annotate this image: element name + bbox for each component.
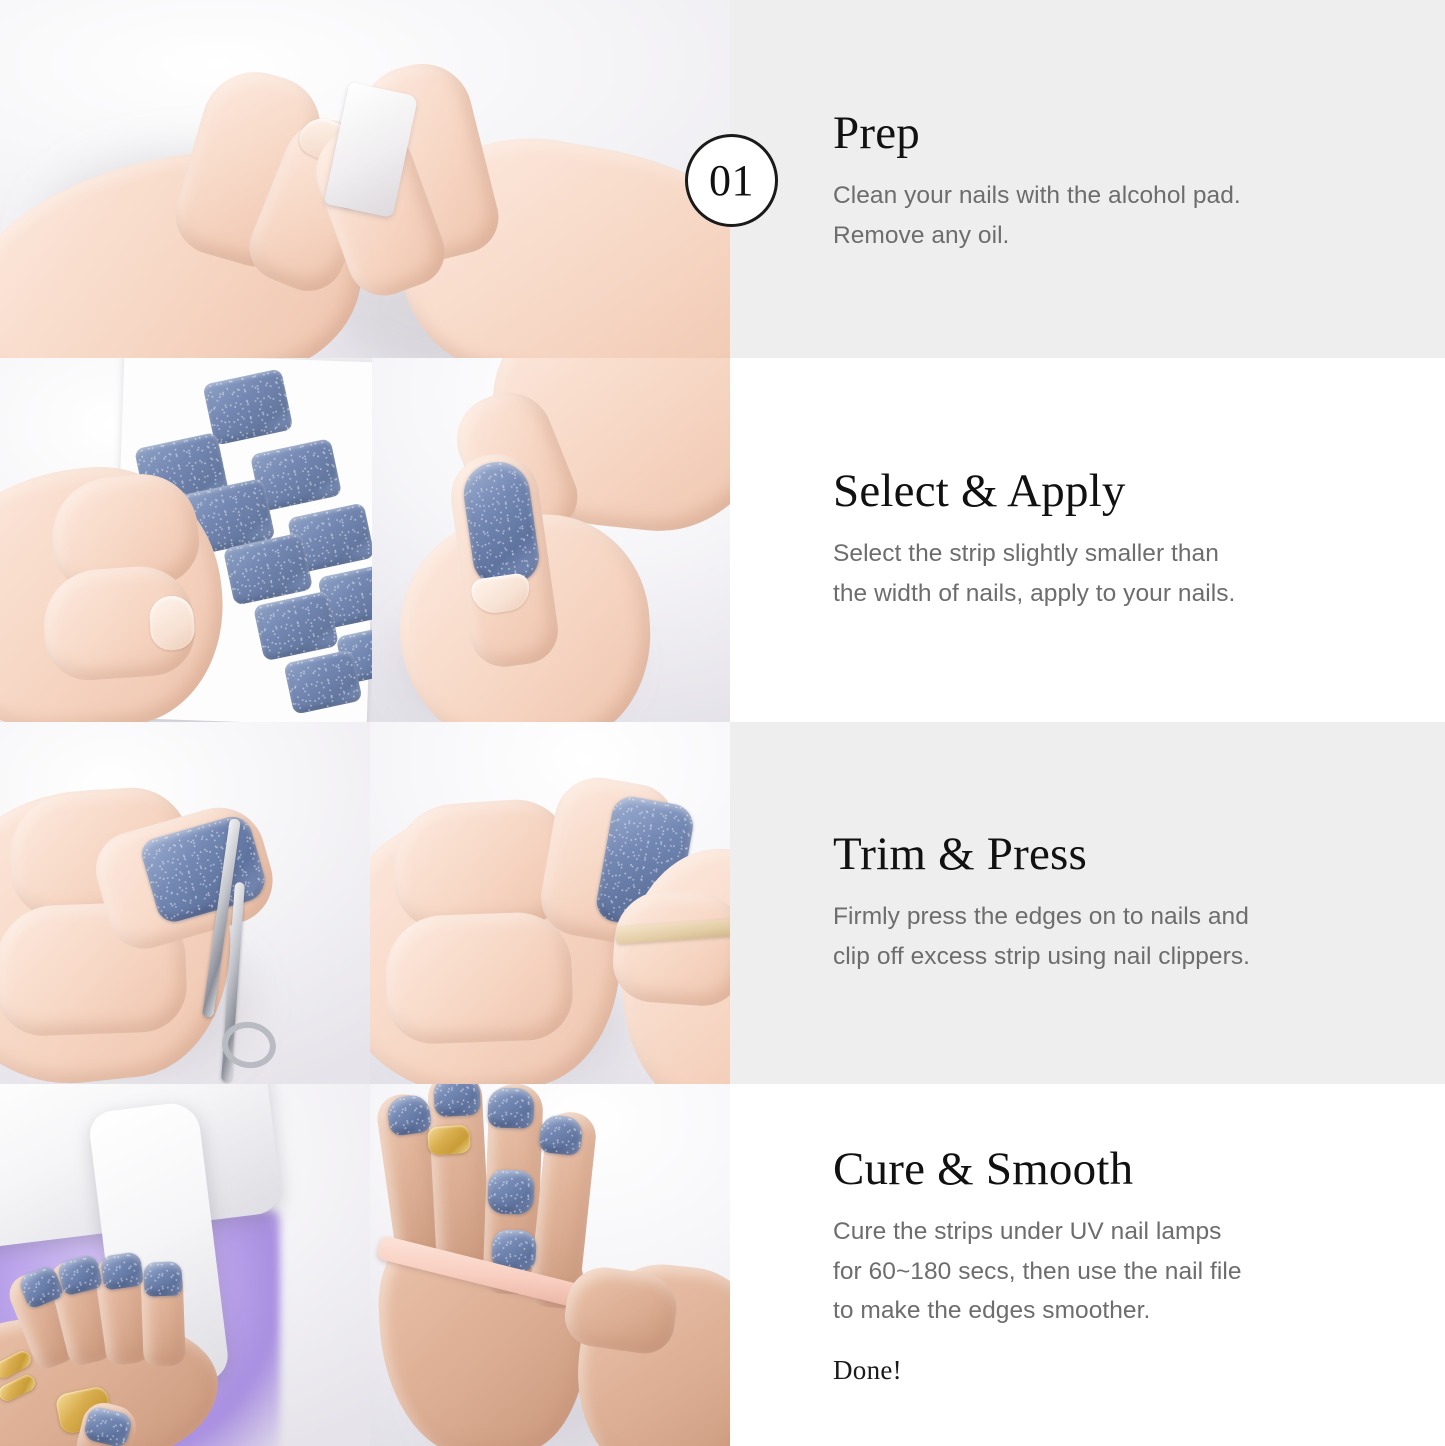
photo-file-smooth (370, 1084, 730, 1446)
step-description-line: for 60~180 secs, then use the nail file (833, 1252, 1405, 1292)
instruction-infographic: 01 Prep Clean your nails with the alcoho… (0, 0, 1445, 1446)
step-title-03: Trim & Press (833, 829, 1405, 881)
step-title-04: Cure & Smooth (833, 1144, 1405, 1196)
step-02-photo-column (0, 358, 730, 722)
step-01-text-column: Prep Clean your nails with the alcohol p… (730, 0, 1445, 358)
step-03-photo-column (0, 722, 730, 1084)
step-04-text-column: Cure & Smooth Cure the strips under UV n… (730, 1084, 1445, 1446)
step-description-line: Remove any oil. (833, 216, 1405, 256)
photo-prep (0, 0, 730, 358)
filed-blue-nail (487, 1087, 534, 1129)
curing-blue-nail (100, 1251, 144, 1290)
filed-blue-nail (433, 1084, 481, 1117)
press-middle-finger (384, 911, 574, 1045)
step-description-01: Clean your nails with the alcohol pad. R… (833, 176, 1405, 255)
step-description-line: the width of nails, apply to your nails. (833, 574, 1405, 614)
curing-blue-nail (143, 1261, 182, 1296)
step-description-line: Select the strip slightly smaller than (833, 534, 1405, 574)
gold-ring (427, 1125, 471, 1156)
photo-apply-strip (372, 358, 730, 722)
photo-select-strips (0, 358, 372, 722)
step-03-text-column: Trim & Press Firmly press the edges on t… (730, 722, 1445, 1084)
step-number-01: 01 (709, 159, 754, 203)
press-right-thumb (610, 888, 730, 1009)
step-01-photo-column (0, 0, 730, 358)
step-row-01: 01 Prep Clean your nails with the alcoho… (0, 0, 1445, 358)
step-02-text-column: Select & Apply Select the strip slightly… (730, 358, 1445, 722)
step-badge-01: 01 (685, 134, 778, 227)
photo-press-strip (370, 722, 730, 1084)
photo-trim-strip (0, 722, 370, 1084)
photo-uv-cure (0, 1084, 370, 1446)
step-description-04: Cure the strips under UV nail lamps for … (833, 1212, 1405, 1331)
step-description-line: to make the edges smoother. (833, 1291, 1405, 1331)
done-label: Done! (833, 1355, 1405, 1386)
step-description-line: clip off excess strip using nail clipper… (833, 937, 1405, 977)
step-description-line: Firmly press the edges on to nails and (833, 897, 1405, 937)
step-row-03: 03 Trim & Press Firmly press the edges o… (0, 722, 1445, 1084)
step-row-04: 04 Cure & Smooth Cure the strips under U… (0, 1084, 1445, 1446)
step-description-03: Firmly press the edges on to nails and c… (833, 897, 1405, 976)
finger-nail (148, 595, 196, 652)
step-row-02: 02 Select & Apply Select the strip sligh… (0, 358, 1445, 722)
step-title-01: Prep (833, 108, 1405, 160)
step-description-line: Clean your nails with the alcohol pad. (833, 176, 1405, 216)
step-title-02: Select & Apply (833, 466, 1405, 518)
step-description-02: Select the strip slightly smaller than t… (833, 534, 1405, 613)
step-04-photo-column (0, 1084, 730, 1446)
step-description-line: Cure the strips under UV nail lamps (833, 1212, 1405, 1252)
filed-blue-nail (487, 1169, 535, 1215)
